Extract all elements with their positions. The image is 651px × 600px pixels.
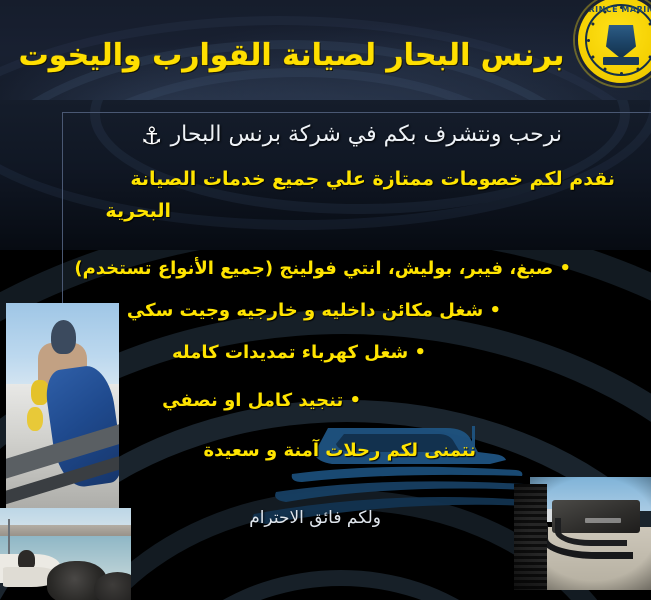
engine-equipment-photo [514, 477, 651, 590]
welcome-text: نرحب ونتشرف بكم في شركة برنس البحار [171, 122, 562, 147]
photo-person-head [51, 320, 76, 354]
poster-canvas: برنس البحار لصيانة القوارب واليخوت PRINC… [0, 0, 651, 600]
subheading-line-1: نقدم لكم خصومات ممتازة علي جميع خدمات ال… [130, 168, 615, 190]
regards-line: ولكم فائق الاحترام [249, 508, 381, 528]
service-bullet-3: • شغل كهرباء تمديدات كامله [172, 342, 426, 363]
wish-line: نتمنى لكم رحلات آمنة و سعيدة [204, 440, 477, 461]
page-title: برنس البحار لصيانة القوارب واليخوت [10, 26, 573, 84]
harbor-boats-photo [0, 508, 131, 600]
welcome-line: نرحب ونتشرف بكم في شركة برنس البحار ⚓ [70, 122, 633, 147]
photo-glove-2 [27, 407, 43, 430]
photo-tire-fender-2 [94, 572, 131, 600]
photo-vignette [514, 477, 651, 590]
seal-arc-text: PRINCE MARINE [578, 5, 651, 14]
service-bullet-4: • تنجيد كامل او نصفي [162, 390, 361, 411]
service-bullet-1: • صبغ، فيبر، بوليش، انتي فولينج (جميع ال… [74, 258, 571, 279]
anchor-icon: ⚓ [141, 124, 163, 148]
subheading-line-2: البحرية [105, 200, 171, 222]
worker-on-boat-photo [6, 303, 119, 516]
photo-dog [18, 550, 35, 568]
seal-crest-base [603, 57, 639, 65]
service-bullet-2: • شغل مكائن داخليه و خارجيه وجيت سكي [127, 300, 501, 321]
